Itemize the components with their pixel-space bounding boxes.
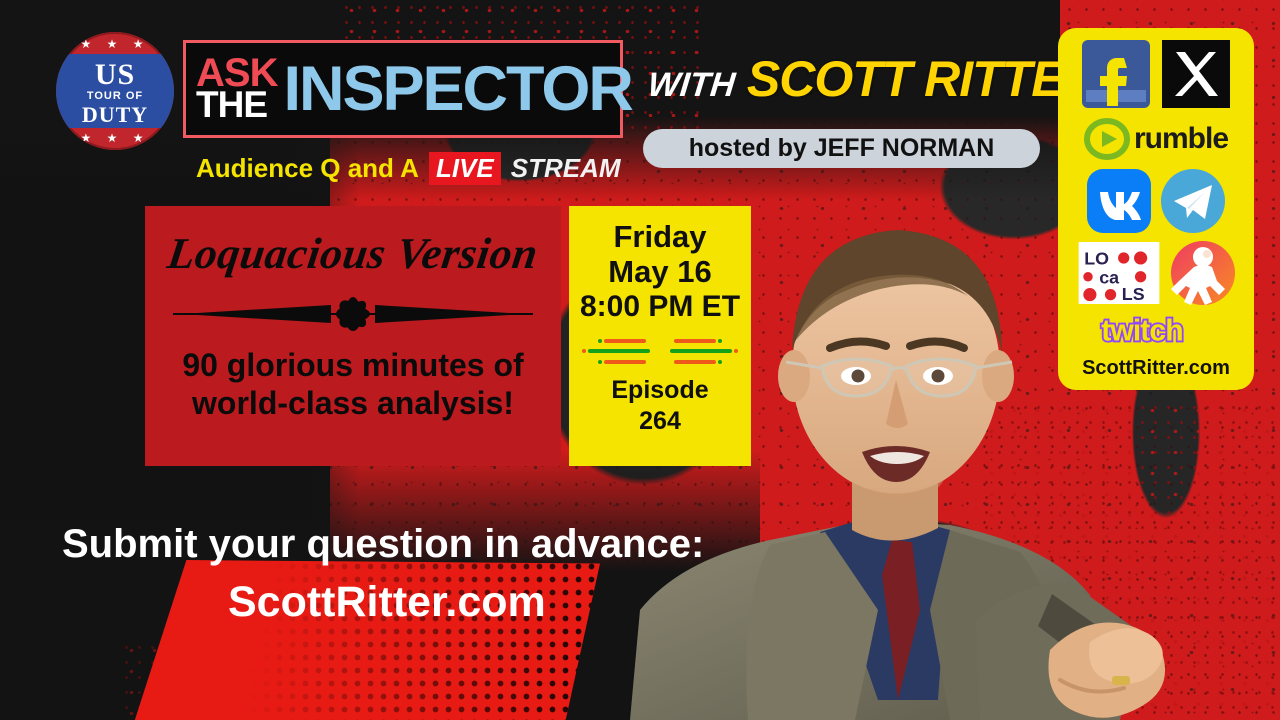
us-tour-of-duty-logo: ★ ★ ★ US TOUR OF DUTY ★ ★ ★ — [56, 32, 174, 150]
svg-text:ca: ca — [1099, 267, 1120, 287]
cta-line-1: Submit your question in advance: — [62, 522, 704, 567]
ask-the-group: ASK THE — [196, 57, 277, 120]
badge-us-text: US — [56, 58, 174, 92]
svg-text:LO: LO — [1084, 248, 1109, 268]
hosted-by-pill: hosted by JEFF NORMAN — [643, 129, 1040, 168]
stream-label: STREAM — [511, 153, 621, 184]
social-row-2[interactable]: rumble — [1084, 116, 1228, 162]
with-label: WITH — [646, 66, 737, 105]
audience-qa-label: Audience Q and A — [196, 153, 419, 184]
locals-icon[interactable]: LO ca LS — [1076, 242, 1162, 304]
cta-line-2: ScottRitter.com — [228, 578, 546, 627]
badge-tour-of-text: TOUR OF — [56, 90, 174, 102]
promo-graphic: ★ ★ ★ US TOUR OF DUTY ★ ★ ★ ASK THE INSP… — [0, 0, 1280, 720]
badge-duty-text: DUTY — [56, 102, 174, 128]
facebook-icon[interactable] — [1080, 38, 1152, 110]
live-badge: LIVE — [429, 152, 501, 185]
vk-icon[interactable] — [1086, 168, 1152, 234]
version-heading: Loquacious Version — [165, 228, 542, 279]
svg-text:twitch: twitch — [1101, 314, 1183, 347]
ornament-taper-left — [181, 305, 331, 323]
version-blurb-line2: world-class analysis! — [182, 385, 523, 423]
social-row-1 — [1080, 38, 1232, 110]
show-title-box: ASK THE INSPECTOR — [183, 40, 623, 138]
host-name: SCOTT RITTER — [747, 50, 1099, 108]
twitch-icon[interactable]: twitch — [1092, 312, 1220, 350]
version-blurb: 90 glorious minutes of world-class analy… — [182, 347, 523, 423]
ornament-dot — [598, 339, 602, 343]
telegram-icon[interactable] — [1160, 168, 1226, 234]
title-inspector: INSPECTOR — [283, 61, 631, 118]
social-website-label[interactable]: ScottRitter.com — [1082, 357, 1230, 380]
title-the: THE — [196, 90, 277, 120]
badge-stars-bottom: ★ ★ ★ — [56, 127, 174, 149]
ornament-dot — [582, 349, 586, 353]
social-row-4: LO ca LS — [1076, 240, 1236, 306]
ornament-dot — [598, 360, 602, 364]
subtitle-row: Audience Q and A LIVE STREAM — [196, 152, 621, 185]
rumble-icon[interactable] — [1084, 118, 1130, 160]
x-twitter-icon[interactable] — [1160, 38, 1232, 110]
ornament-taper-right — [375, 305, 525, 323]
version-panel: Loquacious Version 90 glorious minutes o… — [145, 206, 561, 466]
ornament-divider — [173, 291, 533, 337]
version-blurb-line1: 90 glorious minutes of — [182, 347, 523, 385]
badge-stars-top: ★ ★ ★ — [56, 33, 174, 55]
host-row: WITH SCOTT RITTER — [648, 50, 1099, 108]
svg-text:LS: LS — [1122, 284, 1145, 304]
odysee-icon[interactable] — [1170, 240, 1236, 306]
social-links-panel[interactable]: rumble LO ca LS — [1058, 28, 1254, 390]
social-row-3 — [1086, 168, 1226, 234]
rumble-wordmark[interactable]: rumble — [1134, 122, 1228, 156]
